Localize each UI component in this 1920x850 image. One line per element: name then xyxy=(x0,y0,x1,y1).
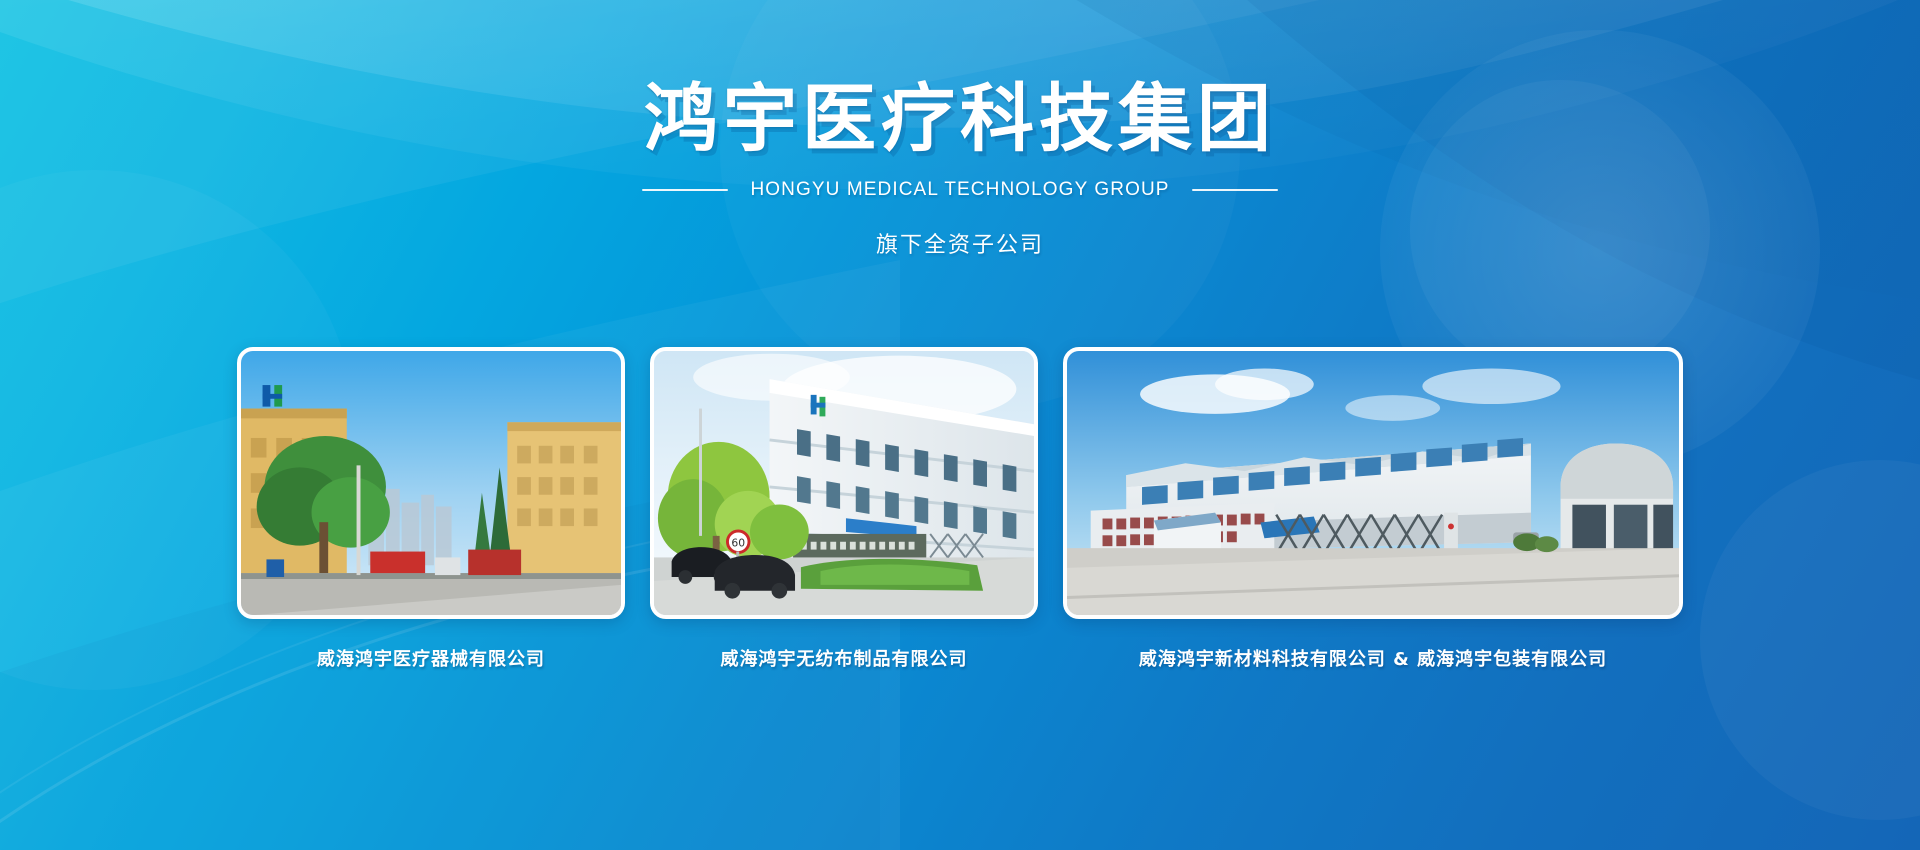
page-title: 鸿宇医疗科技集团 xyxy=(642,78,1277,161)
subtitle-chinese: 旗下全资子公司 xyxy=(642,227,1277,259)
subtitle-english-row: HONGYU MEDICAL TECHNOLOGY GROUP xyxy=(642,179,1277,201)
subtitle-english: HONGYU MEDICAL TECHNOLOGY GROUP xyxy=(750,179,1169,201)
banner-content: 鸿宇医疗科技集团 HONGYU MEDICAL TECHNOLOGY GROUP… xyxy=(0,0,1920,850)
rule-left-decoration xyxy=(642,189,728,191)
title-block: 鸿宇医疗科技集团 HONGYU MEDICAL TECHNOLOGY GROUP… xyxy=(642,78,1277,259)
rule-right-decoration xyxy=(1192,189,1278,191)
company-group-banner: 鸿宇医疗科技集团 HONGYU MEDICAL TECHNOLOGY GROUP… xyxy=(0,0,1920,850)
